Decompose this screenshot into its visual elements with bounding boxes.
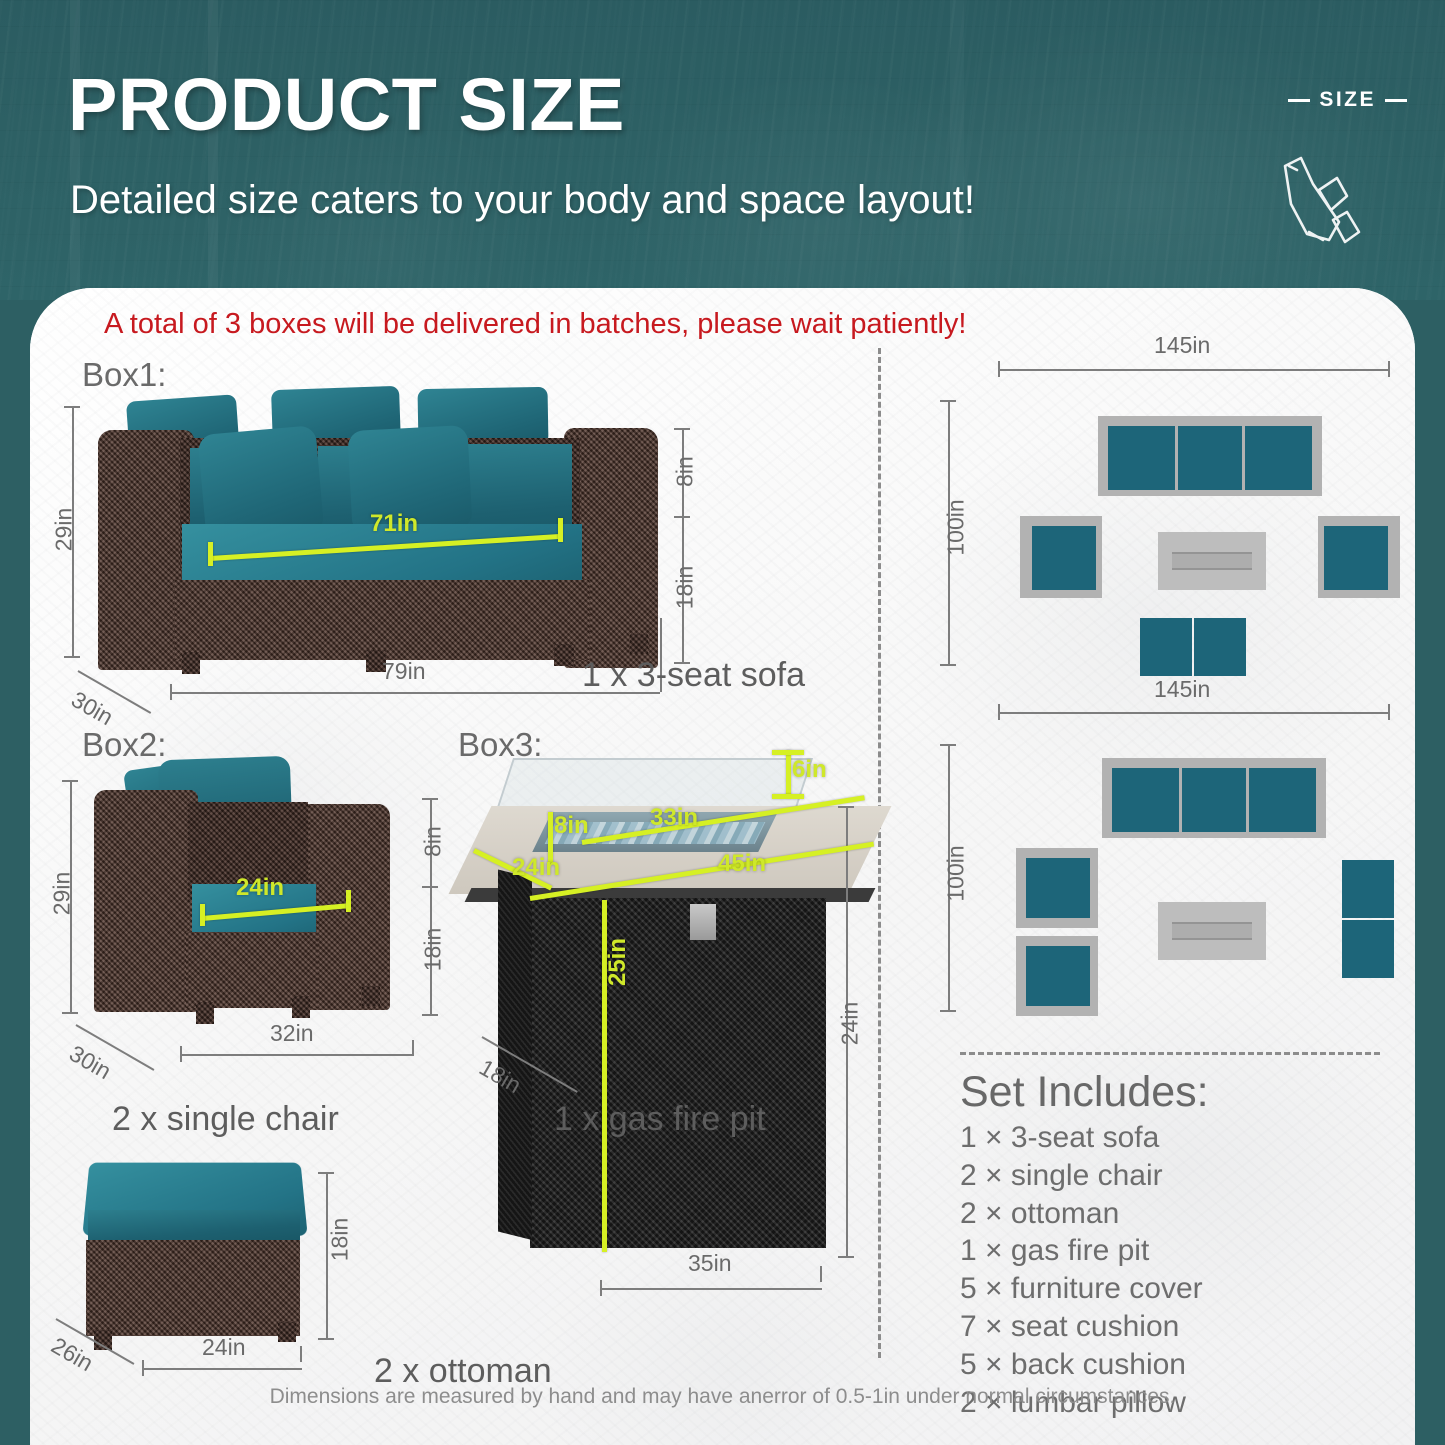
- ottoman-height-label: 18in: [327, 1202, 354, 1278]
- ottoman-width-line: [142, 1368, 302, 1370]
- layout1-width-label: 145in: [1154, 332, 1210, 359]
- chair-leg: [196, 1002, 214, 1024]
- chair-caption: 2 x single chair: [112, 1100, 339, 1139]
- set-includes-panel: Set Includes: 1 × 3-seat sofa 2 × single…: [960, 1068, 1209, 1421]
- chair-seatwidth-cap-left: [200, 904, 205, 926]
- chair-seatheight-label: 18in: [420, 912, 447, 988]
- ottoman-width-tick-left: [142, 1360, 144, 1376]
- chair-seatheight-tick-bottom: [422, 1014, 438, 1016]
- chair-width-label: 32in: [270, 1020, 313, 1047]
- sofa-seatwidth-cap-left: [208, 542, 213, 566]
- measurement-disclaimer: Dimensions are measured by hand and may …: [30, 1385, 1415, 1409]
- chair-height-label: 29in: [49, 854, 76, 934]
- layout1-height-tick-bottom: [940, 664, 956, 666]
- sofa-back-tick-top: [674, 428, 690, 430]
- firepit-tabledepth-label: 24in: [512, 854, 560, 882]
- box1-label: Box1:: [82, 356, 166, 394]
- firepit-body-front: [530, 898, 826, 1248]
- sofa-seatwidth-label: 71in: [370, 510, 418, 538]
- set-includes-item: 1 × gas fire pit: [960, 1232, 1209, 1270]
- firepit-caption: 1 x gas fire pit: [554, 1100, 766, 1139]
- set-includes-item: 5 × furniture cover: [960, 1270, 1209, 1308]
- sofa-line-icon: [1267, 148, 1377, 258]
- layout2-ottoman: [1342, 920, 1394, 978]
- layout2-width-line: [998, 712, 1390, 714]
- firepit-glassheight-cap-top: [772, 750, 804, 755]
- firepit-glassheight-line: [786, 750, 791, 798]
- page-subtitle: Detailed size caters to your body and sp…: [70, 178, 975, 223]
- sofa-height-tick-bottom: [64, 656, 80, 658]
- set-includes-item: 2 × ottoman: [960, 1195, 1209, 1233]
- sofa-base: [174, 580, 590, 660]
- size-badge: SIZE: [1288, 88, 1407, 112]
- layout1-sofa-seam: [1175, 426, 1178, 490]
- ottoman-base: [86, 1240, 300, 1336]
- sofa-width-tick-left: [170, 684, 172, 700]
- firepit-control-knob: [690, 904, 716, 940]
- layout2-height-label: 100in: [943, 824, 970, 924]
- sofa-height-label: 29in: [51, 490, 78, 570]
- firepit-totalheight-tick-top: [838, 806, 854, 808]
- firepit-burnerwidth-label: 8in: [554, 812, 589, 840]
- ottoman-width-tick-right: [300, 1346, 302, 1362]
- layout2-sofa-seam: [1179, 768, 1182, 832]
- firepit-totalheight-label: 24in: [837, 986, 864, 1062]
- chair-height-tick-bottom: [62, 1012, 78, 1014]
- firepit-glassheight-cap-bot: [772, 794, 804, 799]
- delivery-notice: A total of 3 boxes will be delivered in …: [104, 308, 966, 341]
- layout1-height-tick-top: [940, 400, 956, 402]
- badge-dash-right: [1385, 99, 1407, 102]
- set-includes-item: 7 × seat cushion: [960, 1308, 1209, 1346]
- layout2-chair-bottom-fill: [1026, 946, 1090, 1006]
- sofa-leg: [554, 644, 574, 666]
- content-card: A total of 3 boxes will be delivered in …: [30, 288, 1415, 1445]
- firepit-baselength-label: 35in: [688, 1250, 731, 1277]
- ottoman-leg: [278, 1322, 296, 1342]
- layout1-sofa-fill: [1108, 426, 1312, 490]
- horizontal-divider: [960, 1052, 1380, 1055]
- layout1-ottoman: [1194, 618, 1246, 676]
- firepit-tablelength-label: 45in: [718, 850, 766, 878]
- box2-label: Box2:: [82, 726, 166, 764]
- chair-seatwidth-label: 24in: [236, 874, 284, 902]
- sofa-back-label: 8in: [672, 437, 699, 507]
- layout2-width-tick-right: [1388, 704, 1390, 720]
- sofa-seatwidth-cap-right: [558, 518, 563, 542]
- chair-width-tick-right: [412, 1040, 414, 1056]
- page-header: PRODUCT SIZE Detailed size caters to you…: [0, 0, 1445, 300]
- ottoman-width-label: 24in: [202, 1334, 245, 1361]
- layout1-ottoman: [1140, 618, 1192, 676]
- layout2-ottoman: [1342, 860, 1394, 918]
- chair-width-tick-left: [180, 1046, 182, 1062]
- layout2-height-tick-bottom: [940, 1010, 956, 1012]
- chair-back-label: 8in: [420, 807, 447, 877]
- set-includes-title: Set Includes:: [960, 1068, 1209, 1117]
- layout1-height-label: 100in: [943, 478, 970, 578]
- firepit-bodyheight-label: 25in: [604, 922, 632, 1002]
- set-includes-item: 1 × 3-seat sofa: [960, 1119, 1209, 1157]
- firepit-baselength-tick-left: [600, 1280, 602, 1296]
- ottoman-height-tick-bottom: [318, 1338, 334, 1340]
- set-includes-list: 1 × 3-seat sofa 2 × single chair 2 × ott…: [960, 1119, 1209, 1421]
- layout2-firepit-burner: [1172, 922, 1252, 940]
- sofa-width-label: 79in: [382, 658, 425, 685]
- page-title: PRODUCT SIZE: [68, 68, 625, 142]
- firepit-baselength-line: [600, 1288, 822, 1290]
- sofa-leg: [182, 652, 200, 674]
- sofa-leg: [630, 634, 648, 654]
- tree-trunk-decor: [950, 0, 964, 300]
- layout1-width-tick-left: [998, 361, 1000, 377]
- chair-leg: [292, 996, 310, 1018]
- vertical-divider: [878, 348, 881, 1358]
- layout2-sofa-fill: [1112, 768, 1316, 832]
- firepit-glassheight-label: 6in: [792, 756, 827, 784]
- sofa-height-tick-top: [64, 406, 80, 408]
- layout1-width-tick-right: [1388, 361, 1390, 377]
- badge-dash-left: [1288, 99, 1310, 102]
- chair-left-arm: [94, 790, 198, 1012]
- chair-leg: [362, 986, 380, 1006]
- layout2-chair-top-fill: [1026, 858, 1090, 918]
- layout1-chair-left-fill: [1032, 526, 1096, 590]
- tree-trunk-decor: [208, 0, 218, 300]
- chair-back-tick-top: [422, 798, 438, 800]
- size-badge-label: SIZE: [1319, 88, 1376, 112]
- sofa-caption: 1 x 3-seat sofa: [582, 656, 805, 695]
- chair-seatwidth-cap-right: [346, 890, 351, 912]
- firepit-baselength-tick-right: [820, 1266, 822, 1282]
- layout2-width-tick-left: [998, 704, 1000, 720]
- firepit-burnerlength-label: 33in: [650, 804, 698, 832]
- layout2-sofa-seam: [1246, 768, 1249, 832]
- layout2-width-label: 145in: [1154, 676, 1210, 703]
- chair-height-tick-top: [62, 780, 78, 782]
- firepit-totalheight-tick-bottom: [838, 1256, 854, 1258]
- layout1-sofa-seam: [1242, 426, 1245, 490]
- ottoman-height-tick-top: [318, 1172, 334, 1174]
- layout2-height-tick-top: [940, 744, 956, 746]
- layout1-firepit-burner: [1172, 552, 1252, 570]
- layout1-width-line: [998, 369, 1390, 371]
- chair-width-line: [180, 1054, 414, 1056]
- set-includes-item: 2 × single chair: [960, 1157, 1209, 1195]
- set-includes-item: 5 × back cushion: [960, 1346, 1209, 1384]
- tree-trunk-decor: [70, 0, 80, 300]
- sofa-seatheight-label: 18in: [672, 550, 699, 626]
- layout1-chair-right-fill: [1324, 526, 1388, 590]
